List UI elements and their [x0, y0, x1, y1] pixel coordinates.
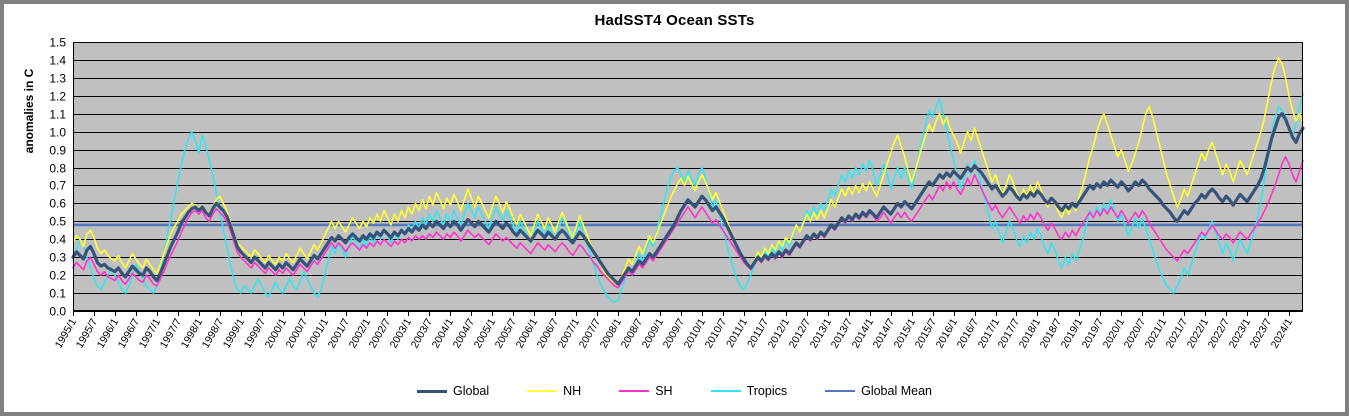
legend-swatch-sh — [619, 390, 649, 392]
y-tick-label: 0.7 — [49, 179, 66, 193]
x-axis-tick-labels: 1995/11995/71996/11996/71997/11997/71998… — [53, 316, 1296, 350]
y-tick-label: 0.9 — [49, 144, 66, 158]
legend-item-global-mean[interactable]: Global Mean — [825, 384, 932, 398]
legend-item-tropics[interactable]: Tropics — [711, 384, 788, 398]
y-tick-label: 1.5 — [49, 36, 66, 50]
y-tick-label: 0.5 — [49, 215, 66, 229]
legend-swatch-global-mean — [825, 390, 855, 392]
legend-label: Global — [453, 384, 489, 398]
legend-item-global[interactable]: Global — [417, 384, 489, 398]
y-tick-label: 0.0 — [49, 305, 66, 319]
y-tick-label: 0.1 — [49, 287, 66, 301]
y-tick-label: 1.4 — [49, 54, 66, 68]
y-tick-label: 1.0 — [49, 126, 66, 140]
legend-swatch-tropics — [711, 390, 741, 392]
legend-item-nh[interactable]: NH — [527, 384, 581, 398]
legend-swatch-nh — [527, 390, 557, 392]
y-tick-label: 1.2 — [49, 90, 66, 104]
y-tick-label: 0.2 — [49, 269, 66, 283]
legend-item-sh[interactable]: SH — [619, 384, 672, 398]
chart-plot-area: 0.00.10.20.30.40.50.60.70.80.91.01.11.21… — [4, 4, 1345, 412]
y-axis-tick-labels: 0.00.10.20.30.40.50.60.70.80.91.01.11.21… — [49, 36, 66, 319]
y-tick-label: 0.4 — [49, 233, 66, 247]
legend-label: NH — [563, 384, 581, 398]
chart-container: HadSST4 Ocean SSTs anomalies in C 0.00.1… — [0, 0, 1349, 416]
y-tick-label: 0.8 — [49, 162, 66, 176]
y-tick-label: 0.6 — [49, 197, 66, 211]
legend-label: SH — [655, 384, 672, 398]
y-tick-label: 1.3 — [49, 72, 66, 86]
legend-label: Tropics — [747, 384, 788, 398]
legend-label: Global Mean — [861, 384, 932, 398]
y-tick-label: 0.3 — [49, 251, 66, 265]
chart-legend: GlobalNHSHTropicsGlobal Mean — [4, 384, 1345, 398]
legend-swatch-global — [417, 390, 447, 393]
x-tick-label: 2024/1 — [1269, 316, 1296, 350]
y-tick-label: 1.1 — [49, 108, 66, 122]
